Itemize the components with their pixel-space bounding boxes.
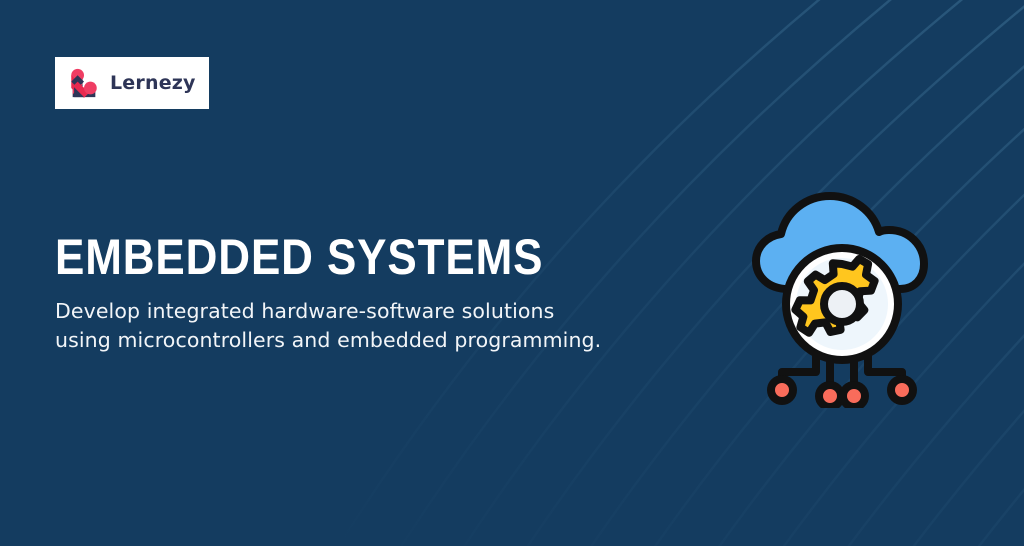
brand-wordmark: Lernezy xyxy=(110,74,196,93)
page-title: EMBEDDED SYSTEMS xyxy=(55,232,636,283)
page-subtitle: Develop integrated hardware-software sol… xyxy=(55,297,715,355)
brand-logo-badge[interactable]: Lernezy xyxy=(55,57,209,109)
page-subtitle-line-1: Develop integrated hardware-software sol… xyxy=(55,297,715,326)
headline-block: EMBEDDED SYSTEMS Develop integrated hard… xyxy=(55,232,715,355)
page-subtitle-line-2: using microcontrollers and embedded prog… xyxy=(55,326,715,355)
promo-banner: Lernezy EMBEDDED SYSTEMS Develop integra… xyxy=(0,0,1024,546)
cloud-gear-circuit-icon xyxy=(742,182,942,408)
lernezy-mark-icon xyxy=(67,66,101,100)
